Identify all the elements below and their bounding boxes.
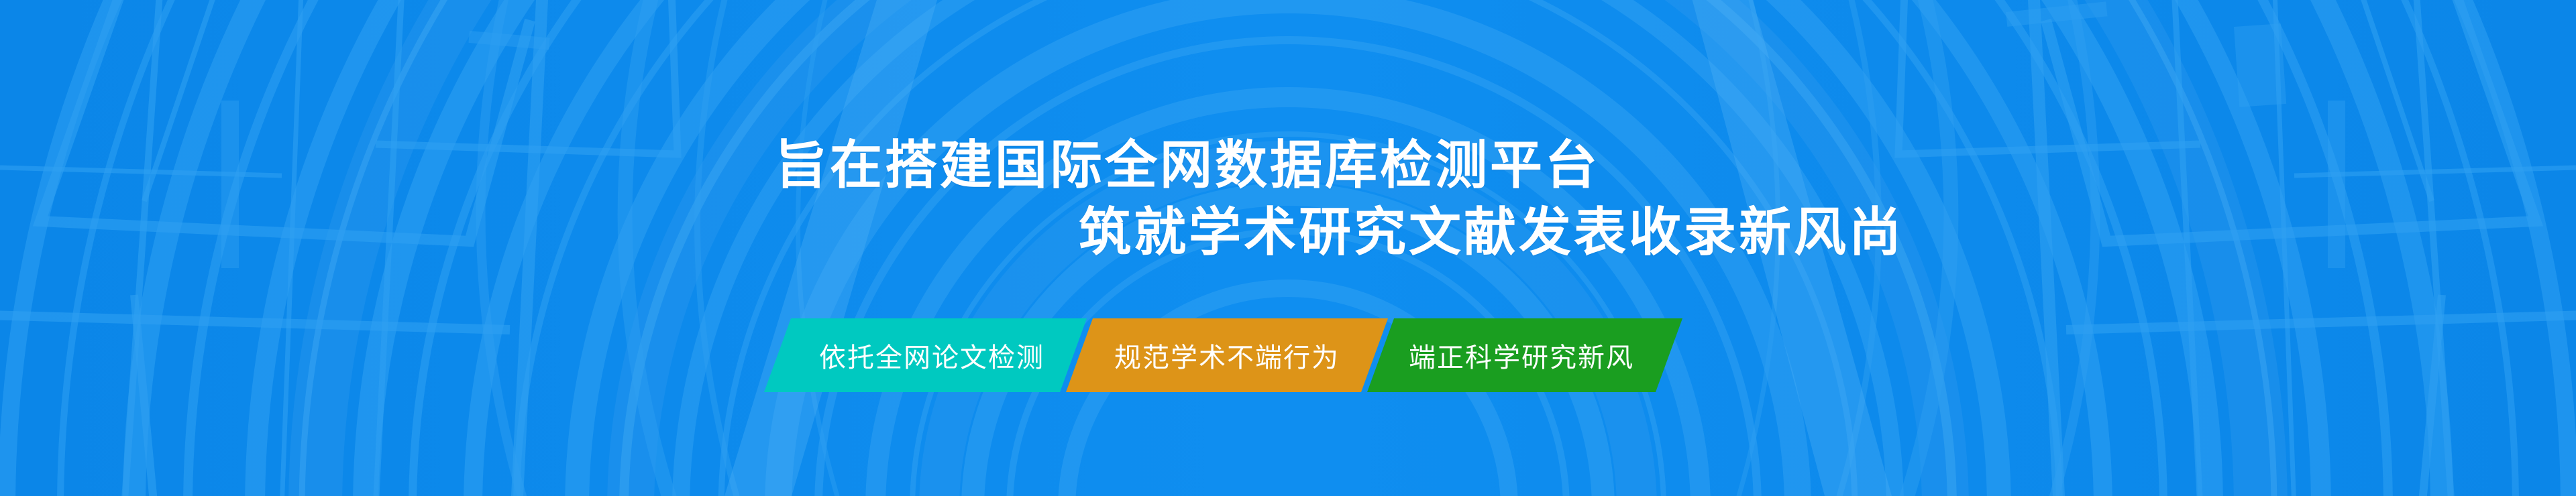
feature-tag-0-label: 依托全网论文检测 [815, 336, 1049, 375]
headline-block: 旨在搭建国际全网数据库检测平台 筑就学术研究文献发表收录新风尚 [0, 131, 2576, 265]
feature-tag-1[interactable]: 规范学术不端行为 [1066, 318, 1388, 392]
promo-banner: 旨在搭建国际全网数据库检测平台 筑就学术研究文献发表收录新风尚 依托全网论文检测… [0, 0, 2576, 496]
feature-tag-1-label: 规范学术不端行为 [1110, 336, 1344, 375]
feature-tag-2-label: 端正科学研究新风 [1405, 336, 1638, 375]
feature-tag-list: 依托全网论文检测 规范学术不端行为 端正科学研究新风 [778, 318, 1675, 392]
feature-tag-0[interactable]: 依托全网论文检测 [765, 318, 1087, 392]
headline-line-1: 旨在搭建国际全网数据库检测平台 [775, 131, 2576, 198]
feature-tag-2[interactable]: 端正科学研究新风 [1367, 318, 1682, 392]
headline-line-2: 筑就学术研究文献发表收录新风尚 [1079, 198, 2576, 265]
